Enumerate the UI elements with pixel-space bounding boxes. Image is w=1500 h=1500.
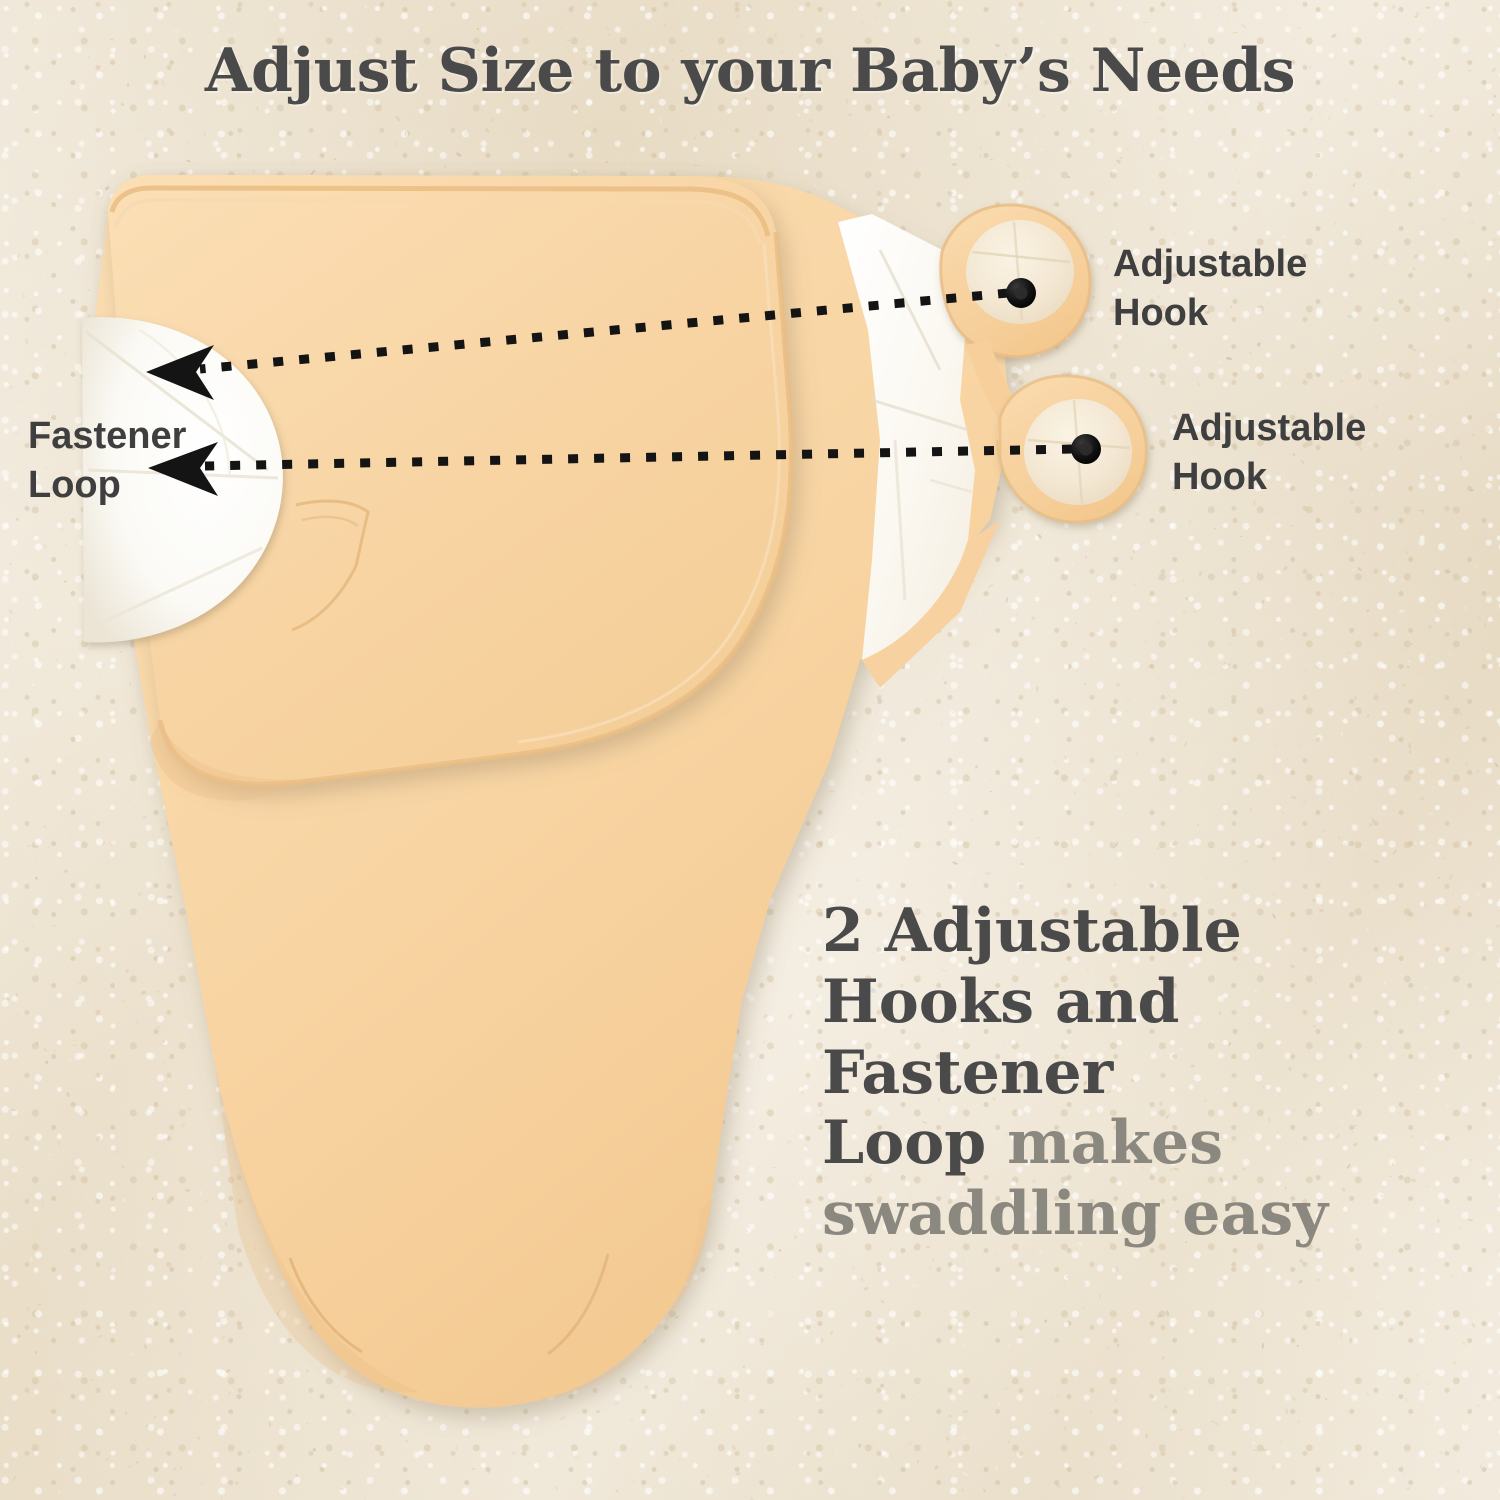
callout-line-1: Adjustable [1113,240,1307,289]
promo-line-3: Fastener [822,1038,1462,1109]
callout-adjustable-hook-bottom: Adjustable Hook [1172,404,1366,501]
infographic-canvas: Adjust Size to your Baby’s Needs Adjusta… [0,0,1500,1500]
promo-line-1: 2 Adjustable [822,896,1462,967]
callout-fastener-loop: Fastener Loop [28,412,186,509]
callout-line-1: Adjustable [1172,404,1366,453]
page-title: Adjust Size to your Baby’s Needs [0,36,1500,106]
callout-adjustable-hook-top: Adjustable Hook [1113,240,1307,337]
product-illustration [0,0,1500,1500]
callout-line-2: Hook [1172,453,1366,502]
promo-line-2: Hooks and [822,967,1462,1038]
promo-text-block: 2 Adjustable Hooks and Fastener Loop mak… [822,896,1462,1250]
promo-line-4-bold: Loop [822,1108,1007,1178]
callout-line-2: Loop [28,461,186,510]
promo-line-4-muted: makes [1007,1108,1223,1178]
promo-line-4: Loop makes [822,1108,1462,1179]
callout-line-1: Fastener [28,412,186,461]
callout-line-2: Hook [1113,289,1307,338]
promo-line-5: swaddling easy [822,1179,1462,1250]
